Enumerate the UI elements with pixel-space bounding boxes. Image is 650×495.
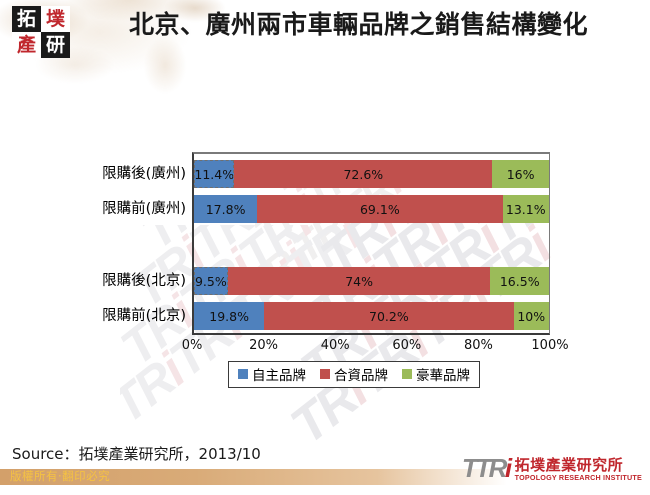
bar-segment-豪華品牌: 13.1%	[503, 195, 550, 223]
bar-segment-自主品牌: 17.8%	[194, 195, 257, 223]
legend-label: 豪華品牌	[416, 364, 470, 384]
bar-segment-豪華品牌: 16%	[492, 160, 549, 188]
category-label: 限購後(北京)	[56, 269, 186, 290]
brand-logo: 拓 墣 產 研	[12, 6, 70, 58]
legend-item-合資品牌[interactable]: 合資品牌	[320, 364, 388, 384]
x-axis-tick: 100%	[531, 338, 568, 353]
x-axis-tick: 0%	[182, 338, 203, 353]
category-label: 限購前(廣州)	[56, 197, 186, 218]
bar-segment-合資品牌: 70.2%	[264, 302, 513, 330]
x-axis-tick: 20%	[249, 338, 278, 353]
bar-segment-自主品牌: 11.4%	[194, 160, 234, 188]
legend-item-豪華品牌[interactable]: 豪華品牌	[402, 364, 470, 384]
legend-swatch-icon	[320, 369, 330, 379]
logo-char-4: 研	[41, 32, 70, 58]
bar-segment-自主品牌: 19.8%	[194, 302, 264, 330]
legend-swatch-icon	[238, 369, 248, 379]
legend-swatch-icon	[402, 369, 412, 379]
x-axis-tick: 80%	[464, 338, 493, 353]
bar-row: 17.8%69.1%13.1%	[194, 195, 549, 223]
logo-char-1: 拓	[12, 6, 41, 32]
category-label: 限購前(北京)	[56, 304, 186, 325]
x-axis-ticks: 0%20%40%60%80%100%	[192, 338, 550, 358]
bar-segment-自主品牌: 9.5%	[194, 267, 228, 295]
legend-label: 自主品牌	[252, 364, 306, 384]
tri-institute-logo: TTRi 拓墣產業研究所 TOPOLOGY RESEARCH INSTITUTE	[462, 457, 642, 481]
source-note: Source：拓墣產業研究所，2013/10	[12, 443, 261, 464]
x-axis-tick: 60%	[392, 338, 421, 353]
tri-english-name: TOPOLOGY RESEARCH INSTITUTE	[515, 474, 642, 481]
bar-row: 9.5%74%16.5%	[194, 267, 549, 295]
page-title: 北京、廣州兩市車輛品牌之銷售結構變化	[86, 8, 631, 43]
legend-item-自主品牌[interactable]: 自主品牌	[238, 364, 306, 384]
chart-legend: 自主品牌合資品牌豪華品牌	[228, 361, 480, 388]
bar-segment-合資品牌: 72.6%	[234, 160, 492, 188]
x-axis-tick: 40%	[321, 338, 350, 353]
copyright-note: 版權所有‧翻印必究	[10, 468, 110, 484]
bar-row: 19.8%70.2%10%	[194, 302, 549, 330]
category-label: 限購後(廣州)	[56, 162, 186, 183]
legend-label: 合資品牌	[334, 364, 388, 384]
tri-chinese-name: 拓墣產業研究所	[515, 458, 642, 473]
chart-plot-area: 19.8%70.2%10%9.5%74%16.5%17.8%69.1%13.1%…	[192, 152, 550, 335]
category-axis-labels: 限購前(北京)限購後(北京)限購前(廣州)限購後(廣州)	[60, 130, 190, 330]
bar-row: 11.4%72.6%16%	[194, 160, 549, 188]
bar-segment-豪華品牌: 10%	[514, 302, 550, 330]
bar-segment-豪華品牌: 16.5%	[490, 267, 549, 295]
bar-segment-合資品牌: 74%	[228, 267, 491, 295]
bar-segment-合資品牌: 69.1%	[257, 195, 502, 223]
logo-char-3: 產	[12, 32, 41, 58]
tri-wordmark: TTRi	[462, 457, 510, 481]
stacked-bar-chart: 限購前(北京)限購後(北京)限購前(廣州)限購後(廣州) 19.8%70.2%1…	[0, 130, 650, 400]
logo-char-2: 墣	[41, 6, 70, 32]
